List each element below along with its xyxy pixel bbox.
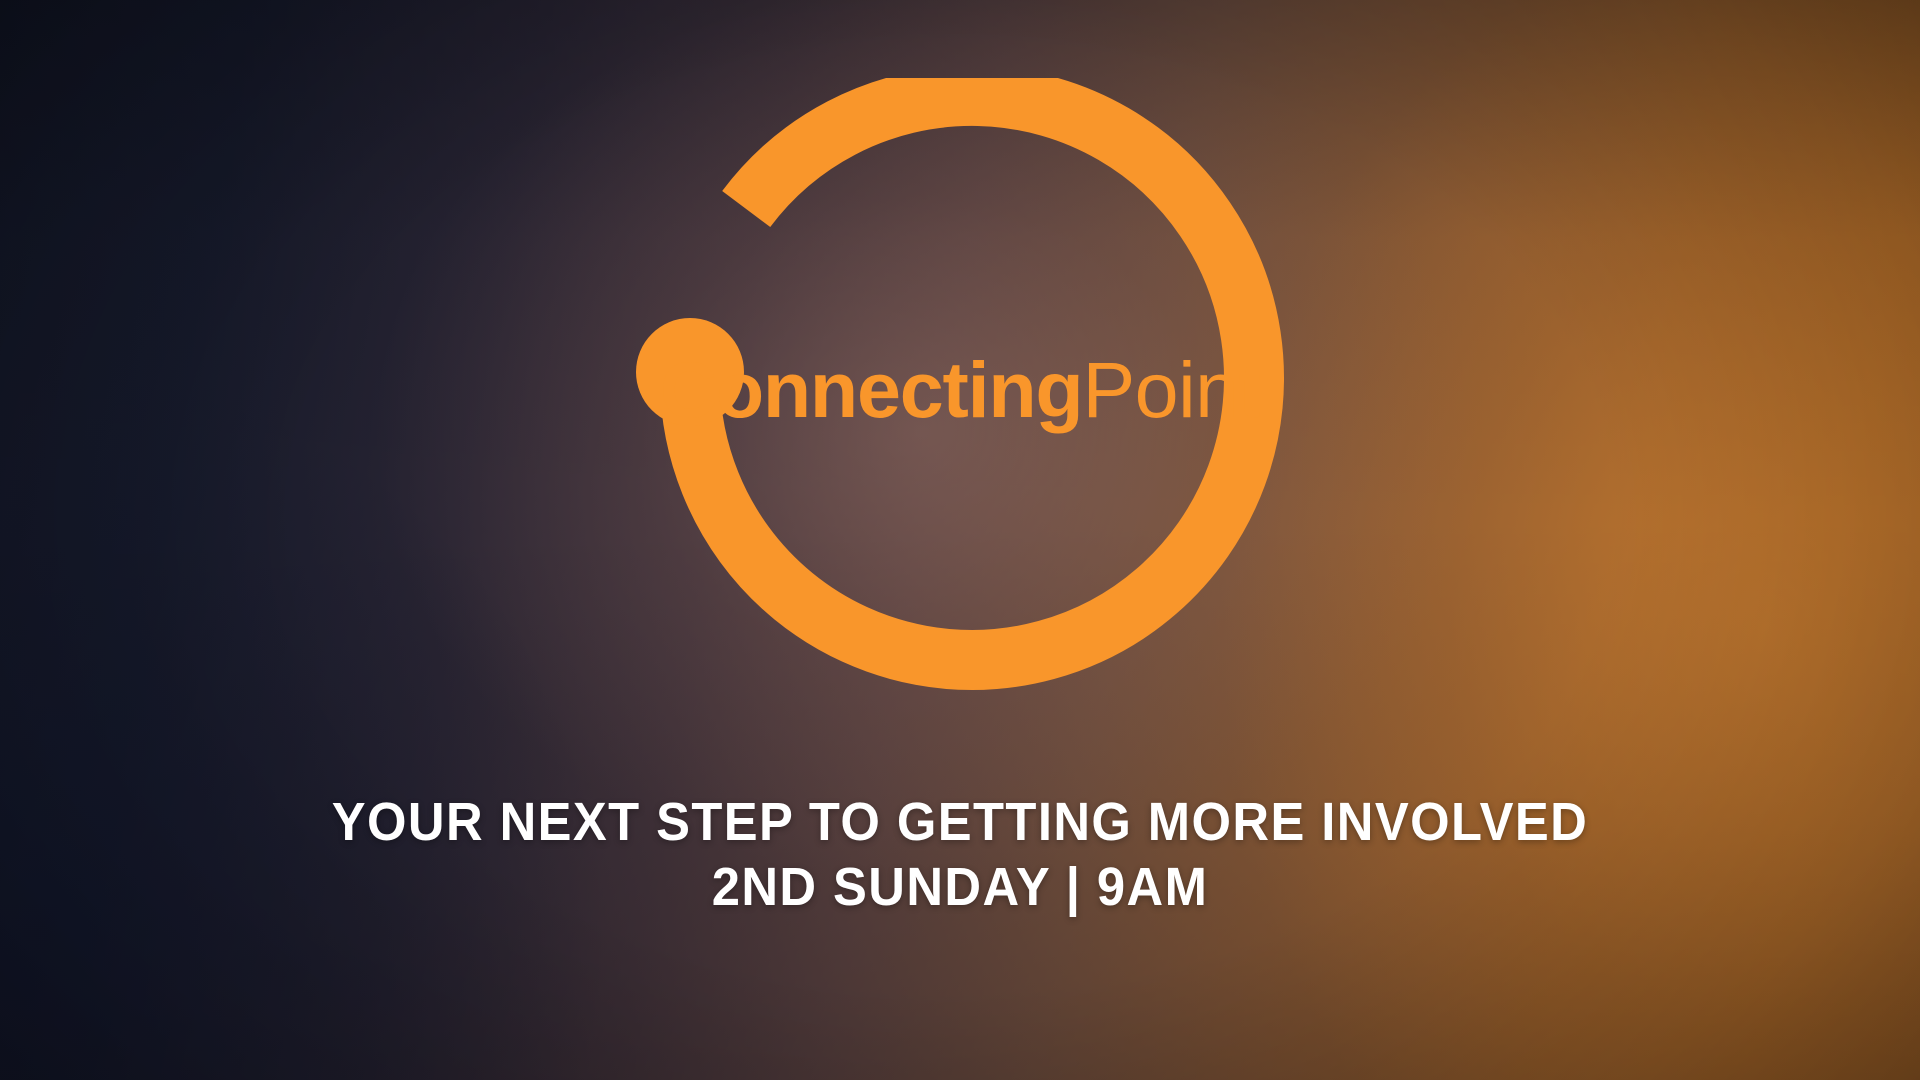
- tagline-block: YOUR NEXT STEP TO GETTING MORE INVOLVED …: [0, 790, 1920, 920]
- wordmark-light-part: Point: [1082, 345, 1260, 434]
- wordmark-bold-part: Connecting: [660, 345, 1082, 434]
- brand-wordmark: ConnectingPoint: [0, 350, 1920, 429]
- tagline-primary-line: YOUR NEXT STEP TO GETTING MORE INVOLVED: [58, 790, 1863, 854]
- tagline-secondary-line: 2ND SUNDAY | 9AM: [58, 854, 1863, 920]
- slide-canvas: ConnectingPoint YOUR NEXT STEP TO GETTIN…: [0, 0, 1920, 1080]
